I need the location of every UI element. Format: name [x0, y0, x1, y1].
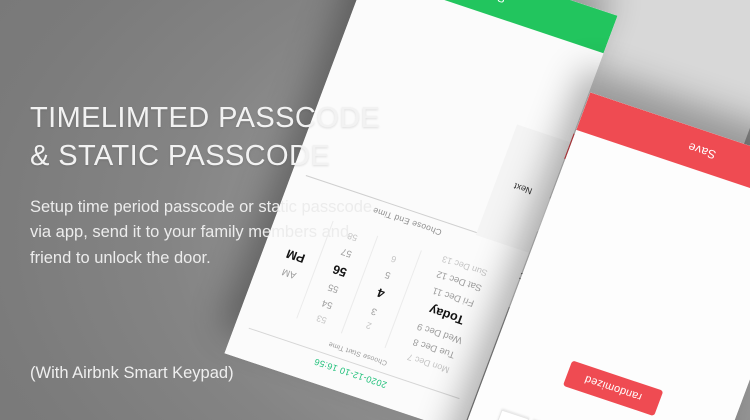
wheel-item[interactable]: 3: [369, 301, 380, 318]
save-button[interactable]: Save: [366, 0, 617, 53]
wheel-item[interactable]: 6: [389, 251, 399, 267]
passcode-digit-group[interactable]: 0 0 1 2 3 4: [462, 401, 712, 420]
subtext: Setup time period passcode or static pas…: [30, 195, 390, 270]
randomize-button[interactable]: randomized: [563, 360, 664, 416]
passcode-digit[interactable]: 4: [489, 409, 529, 420]
marketing-copy: TIMELIMTED PASSCODE & STATIC PASSCODE Se…: [30, 100, 390, 271]
wheel-item[interactable]: 2: [364, 317, 374, 333]
footnote: (With Airbnk Smart Keypad): [30, 364, 234, 383]
poster-canvas: Airbnk ◐ 05:44 ‹ Time Password 1 2 3 4 5…: [0, 0, 750, 420]
page-title: TIMELIMTED PASSCODE & STATIC PASSCODE: [30, 100, 390, 175]
wheel-item-selected[interactable]: 4: [374, 281, 388, 304]
